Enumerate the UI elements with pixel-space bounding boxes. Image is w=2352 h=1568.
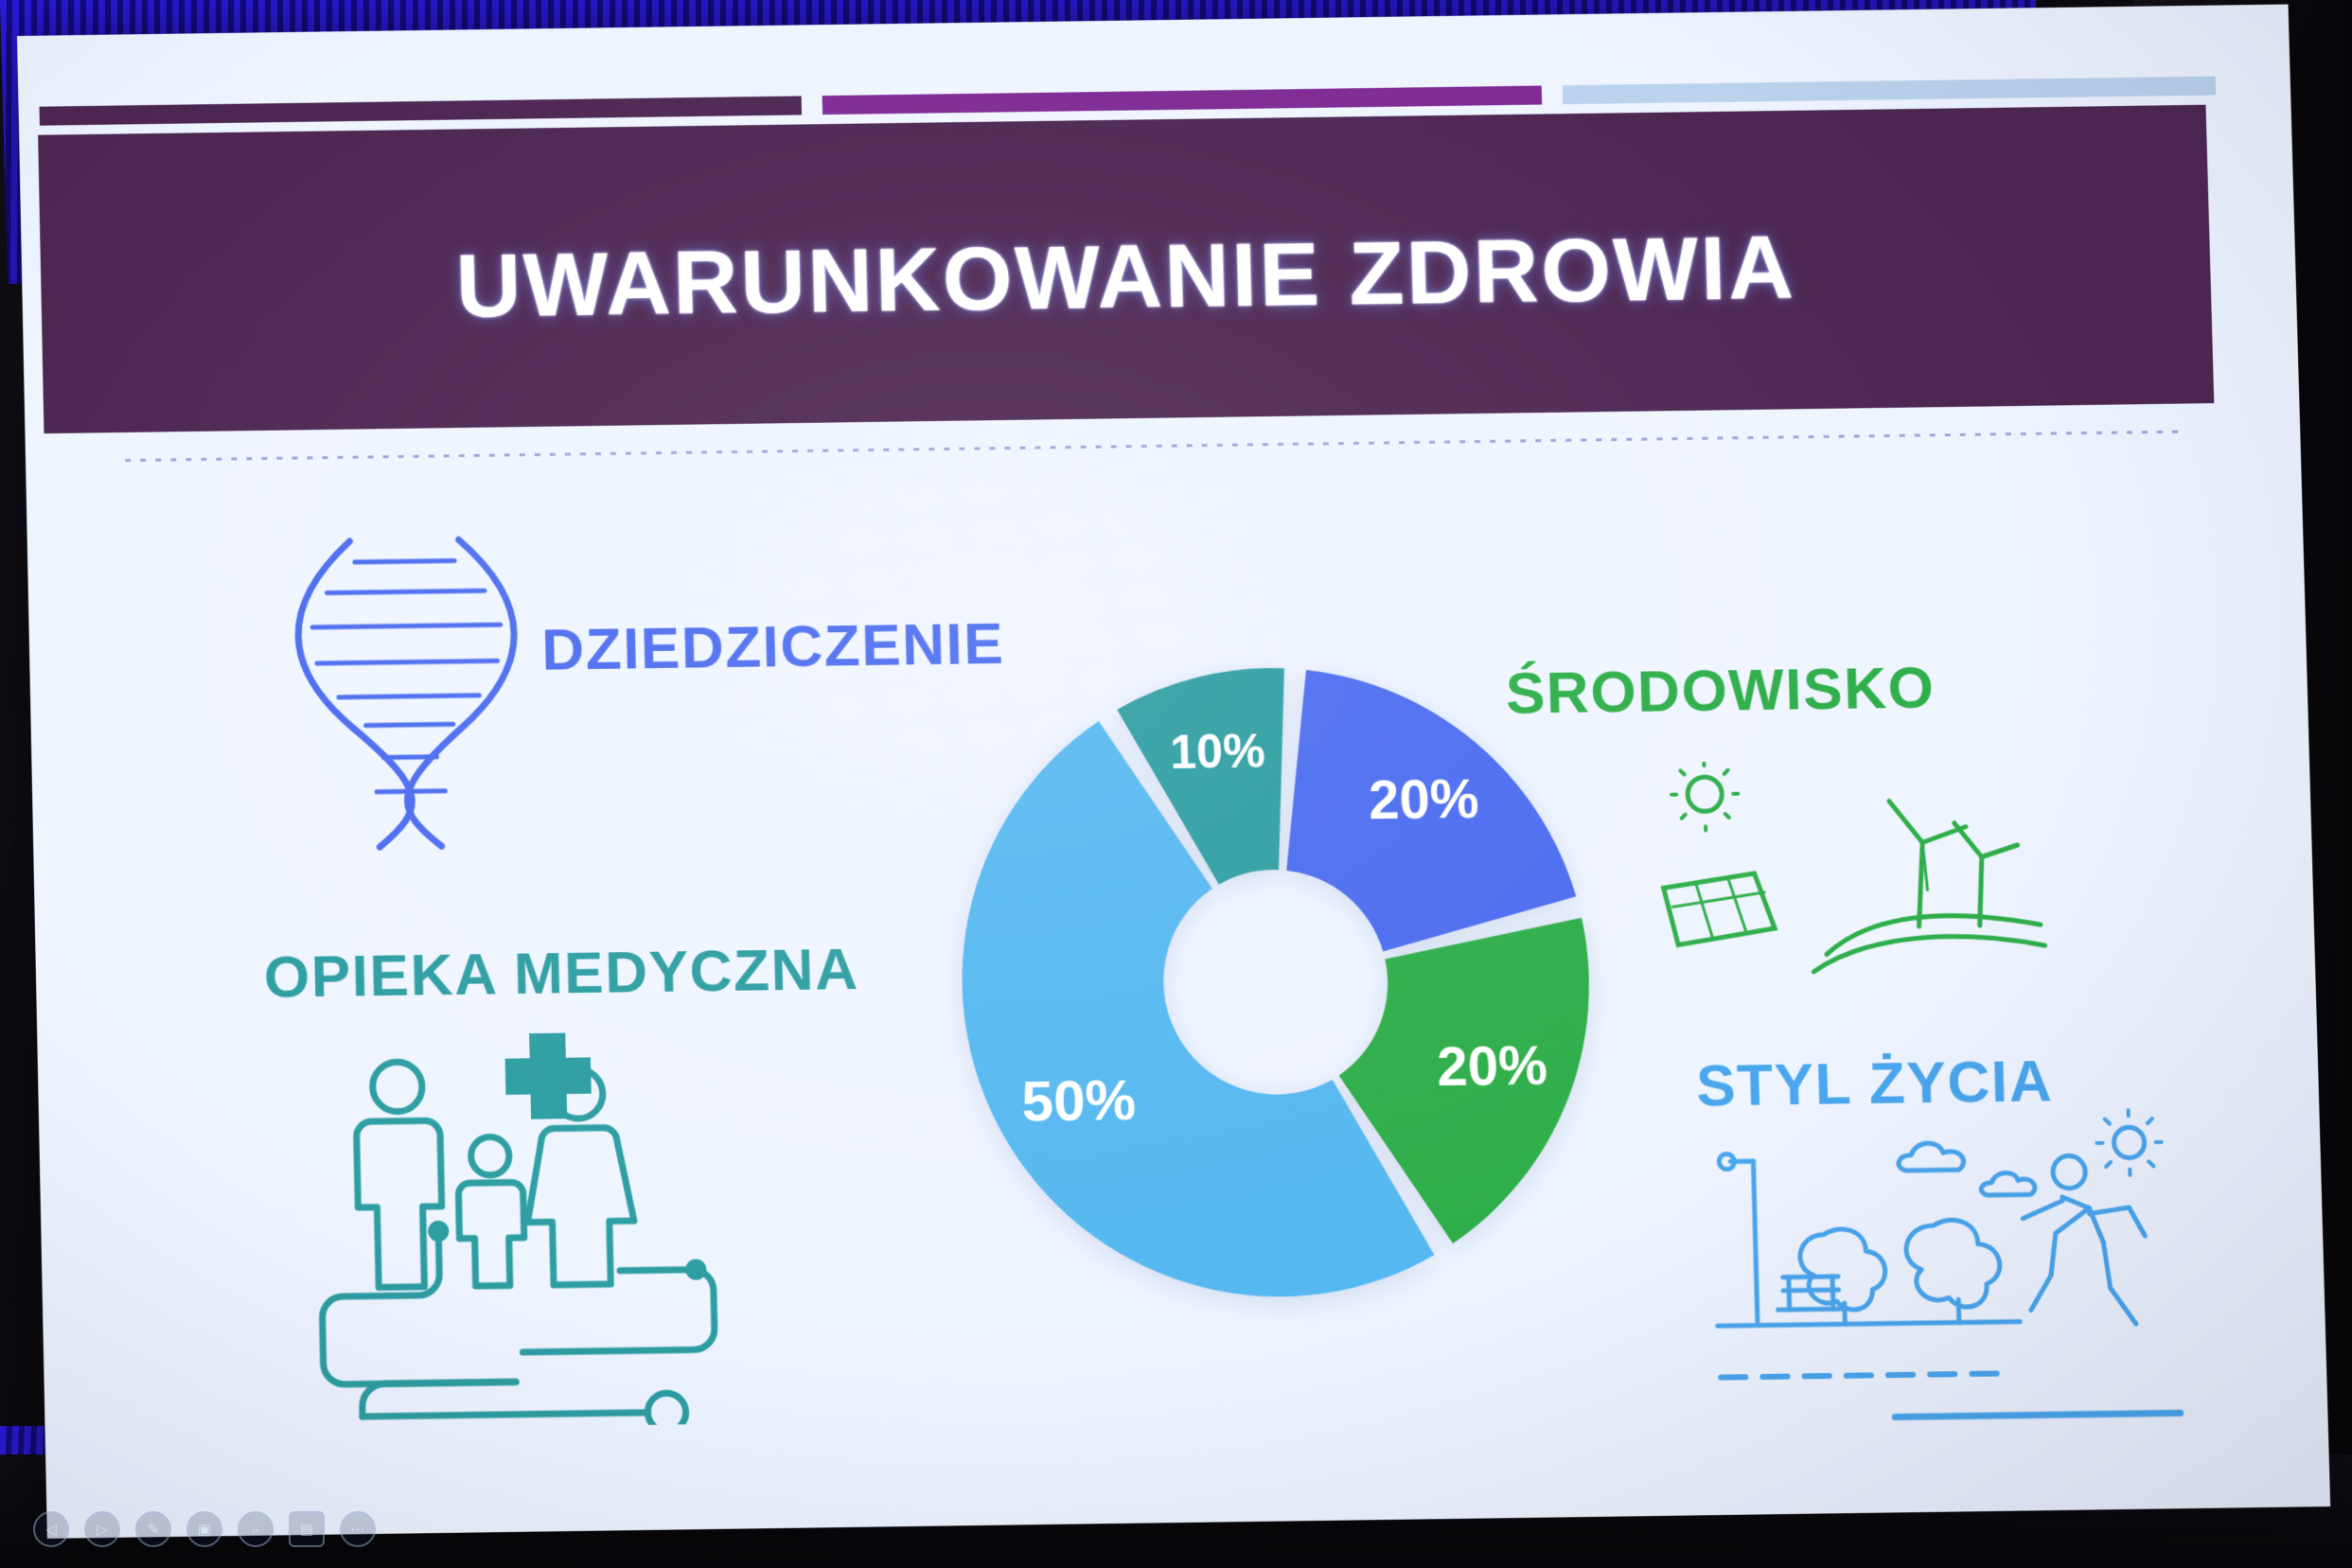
accent-segment-light-blue bbox=[1563, 77, 2217, 105]
pie-label-dziedziczenie: 20% bbox=[1368, 769, 1479, 832]
dotted-divider bbox=[125, 431, 2186, 462]
presentation-screen: UWARUNKOWANIE ZDROWIA DZIEDZICZENIE ŚROD… bbox=[17, 4, 2330, 1547]
player-toolbar[interactable]: ◁▷✎▣⌕▤⋯ bbox=[33, 1511, 376, 1547]
slide-button[interactable]: ▤ bbox=[289, 1511, 325, 1547]
donut-chart-svg: 20%20%50%10% bbox=[887, 596, 1665, 1368]
pie-label-styl-życia: 50% bbox=[1021, 1068, 1137, 1134]
camera-button[interactable]: ▣ bbox=[186, 1511, 222, 1547]
prev-button[interactable]: ◁ bbox=[33, 1511, 69, 1547]
park-runner-sun-icon bbox=[1707, 1107, 2190, 1429]
more-button[interactable]: ⋯ bbox=[340, 1511, 376, 1547]
zoom-button[interactable]: ⌕ bbox=[238, 1511, 274, 1547]
pie-label-środowisko: 20% bbox=[1436, 1035, 1547, 1098]
label-opieka-medyczna: OPIEKA MEDYCZNA bbox=[263, 936, 859, 1012]
pen-button[interactable]: ✎ bbox=[135, 1511, 171, 1547]
pie-label-opieka-medyczna: 10% bbox=[1170, 725, 1266, 780]
page-title: UWARUNKOWANIE ZDROWIA bbox=[40, 211, 2211, 344]
accent-segment-bright-purple bbox=[822, 86, 1543, 115]
dna-helix-icon bbox=[259, 521, 579, 858]
donut-chart: 20%20%50%10% bbox=[887, 596, 1665, 1368]
play-button[interactable]: ▷ bbox=[84, 1511, 120, 1547]
header-band: UWARUNKOWANIE ZDROWIA bbox=[38, 105, 2214, 433]
accent-segment-dark-purple bbox=[40, 96, 803, 125]
sun-solar-panel-wind-turbine-icon bbox=[1645, 757, 2049, 981]
projected-slide-photo: UWARUNKOWANIE ZDROWIA DZIEDZICZENIE ŚROD… bbox=[0, 0, 2352, 1568]
slide-canvas: UWARUNKOWANIE ZDROWIA DZIEDZICZENIE ŚROD… bbox=[17, 4, 2330, 1538]
family-medical-care-icon bbox=[274, 1013, 835, 1431]
